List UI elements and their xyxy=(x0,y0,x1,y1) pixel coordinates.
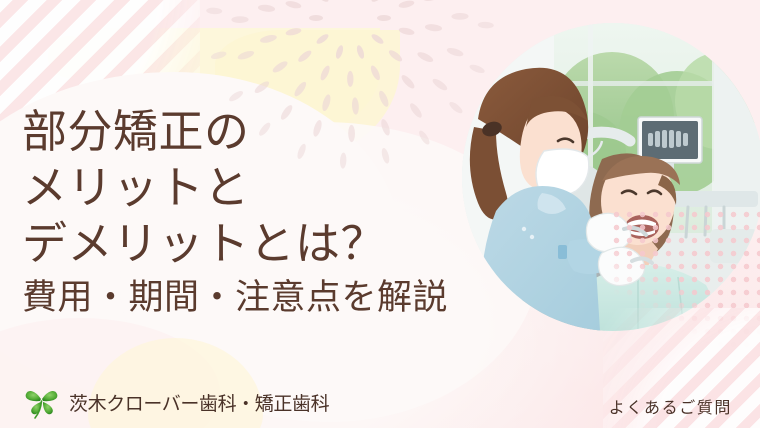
clinic-logo[interactable]: 茨木クローバー歯科・矯正歯科 xyxy=(22,383,329,421)
faq-link[interactable]: よくあるご質問 xyxy=(609,394,732,418)
clover-icon xyxy=(22,383,62,421)
headline-line-3: デメリットとは？ xyxy=(22,216,442,272)
headline-subtitle: 費用・期間・注意点を解説 xyxy=(22,275,442,320)
clinic-name-text: 茨木クローバー歯科・矯正歯科 xyxy=(69,389,329,416)
headline-line-1: 部分矯正の xyxy=(22,104,442,160)
promo-banner: 部分矯正の メリットと デメリットとは？ 費用・期間・注意点を解説 xyxy=(0,0,760,428)
headline-line-2: メリットと xyxy=(22,160,442,216)
headline-block: 部分矯正の メリットと デメリットとは？ 費用・期間・注意点を解説 xyxy=(22,104,442,320)
